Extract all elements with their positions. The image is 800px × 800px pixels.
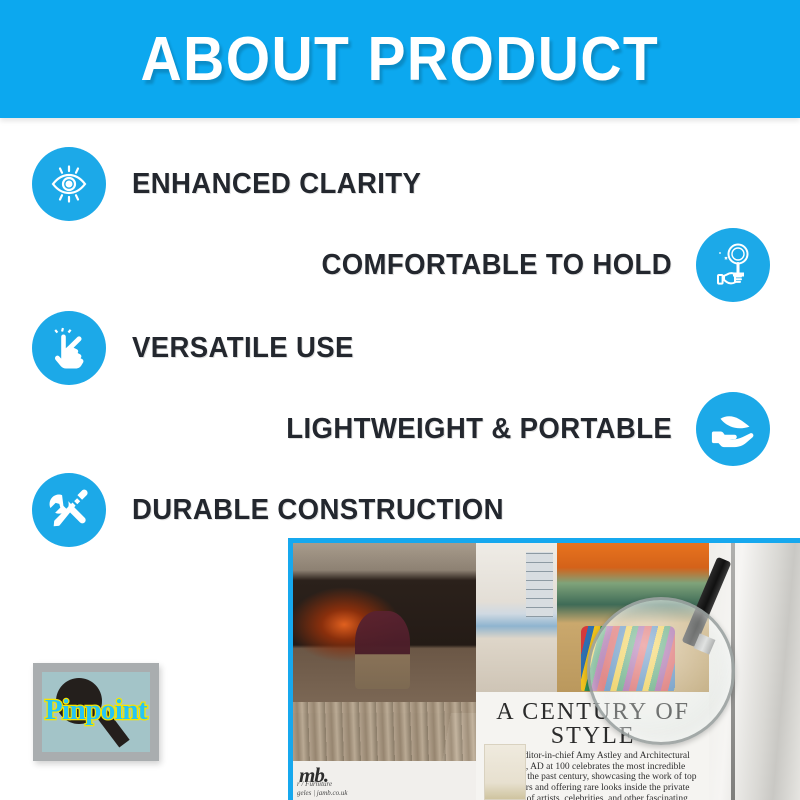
- hand-tap-icon: [32, 311, 106, 385]
- feature-label: LIGHTWEIGHT & PORTABLE: [286, 413, 672, 446]
- magazine-left-page-footer: mb. r / Furniture geles | jamb.co.uk: [293, 761, 476, 800]
- magazine-left-page: [293, 543, 476, 713]
- advertiser-line-2: geles | jamb.co.uk: [297, 789, 348, 797]
- magazine-spread-photo: mb. r / Furniture geles | jamb.co.uk A C…: [293, 543, 800, 800]
- feature-label: COMFORTABLE TO HOLD: [321, 249, 672, 282]
- wrench-screwdriver-icon: [32, 473, 106, 547]
- magazine-book-thumbnail: [484, 744, 526, 800]
- eye-icon: [32, 147, 106, 221]
- brand-logo: Pinpoint: [33, 663, 159, 761]
- rug-detail: [293, 702, 476, 764]
- brand-name: Pinpoint: [45, 694, 147, 727]
- feature-list: ENHANCED CLARITY COMFORTABLE TO HOLD: [0, 118, 800, 538]
- page-title: ABOUT PRODUCT: [141, 24, 660, 95]
- product-photo: mb. r / Furniture geles | jamb.co.uk A C…: [288, 538, 800, 800]
- feature-label: DURABLE CONSTRUCTION: [132, 494, 504, 527]
- advertiser-line-1: r / Furniture: [297, 780, 332, 788]
- hand-magnifier-icon: [696, 228, 770, 302]
- feather-hand-icon: [696, 392, 770, 466]
- header-banner: ABOUT PRODUCT: [0, 0, 800, 118]
- magazine-middle-image: [476, 543, 557, 697]
- feature-label: ENHANCED CLARITY: [132, 168, 421, 201]
- feature-row: COMFORTABLE TO HOLD: [303, 217, 770, 313]
- feature-label: VERSATILE USE: [132, 332, 354, 365]
- magnifier-lens: [587, 597, 735, 745]
- about-product-infographic: ABOUT PRODUCT ENHANCED CLARITY COMFORTAB…: [0, 0, 800, 800]
- brand-logo-plate: Pinpoint: [42, 672, 150, 752]
